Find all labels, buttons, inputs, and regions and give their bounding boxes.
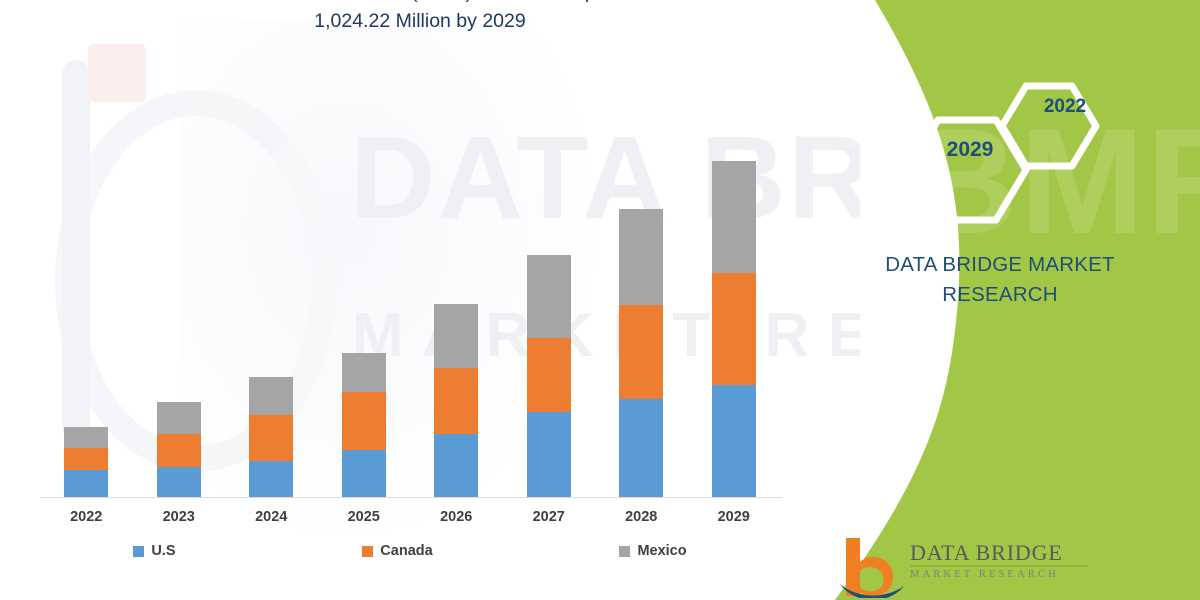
logo-title: DATA BRIDGE (910, 540, 1063, 566)
bar-segment-canada-2022[interactable] (64, 448, 108, 470)
hex-2029-icon (908, 120, 1026, 220)
x-axis-label-2022: 2022 (64, 509, 108, 525)
hexagon-badges: 2029 2022 (900, 78, 1140, 228)
bar-segment-canada-2024[interactable] (249, 415, 293, 461)
legend-label: Mexico (637, 543, 686, 559)
bar-segment-us-2028[interactable] (619, 399, 663, 497)
bar-2022[interactable] (64, 427, 108, 497)
bar-segment-mexico-2023[interactable] (157, 402, 201, 434)
logo-subtitle: MARKET RESEARCH (910, 569, 1059, 580)
bar-2028[interactable] (619, 209, 663, 497)
x-axis-label-2024: 2024 (249, 509, 293, 525)
hex-2022-label: 2022 (1010, 96, 1120, 118)
bar-segment-canada-2025[interactable] (342, 392, 386, 450)
x-axis-label-2029: 2029 (712, 509, 756, 525)
logo-mark-icon (840, 536, 906, 598)
chart-legend: U.SCanadaMexico (40, 538, 780, 564)
bar-segment-canada-2028[interactable] (619, 305, 663, 399)
hex-2029-label: 2029 (910, 138, 1030, 162)
bar-segment-us-2026[interactable] (434, 434, 478, 497)
bar-2027[interactable] (527, 255, 571, 497)
bar-segment-mexico-2027[interactable] (527, 255, 571, 338)
bar-segment-mexico-2022[interactable] (64, 427, 108, 448)
x-axis-label-2028: 2028 (619, 509, 663, 525)
bar-segment-us-2027[interactable] (527, 412, 571, 497)
bars-container (40, 60, 780, 497)
legend-swatch-icon (362, 546, 373, 557)
bar-2026[interactable] (434, 304, 478, 497)
bar-segment-canada-2027[interactable] (527, 338, 571, 412)
x-axis-label-2025: 2025 (342, 509, 386, 525)
brand-line-2: RESEARCH (800, 280, 1200, 310)
bar-2025[interactable] (342, 353, 386, 497)
x-axis-label-2023: 2023 (157, 509, 201, 525)
bar-2024[interactable] (249, 377, 293, 497)
branding-panel: DBMR Device (LVAD) Market, By 2029 2029 … (780, 0, 1200, 600)
bar-segment-us-2025[interactable] (342, 450, 386, 497)
brand-line-1: DATA BRIDGE MARKET (800, 250, 1200, 280)
bar-2023[interactable] (157, 402, 201, 497)
legend-label: U.S (151, 543, 175, 559)
legend-item-us[interactable]: U.S (133, 543, 175, 559)
bar-segment-canada-2023[interactable] (157, 434, 201, 467)
x-axis-labels: 20222023202420252026202720282029 (40, 505, 780, 529)
x-axis-label-2026: 2026 (434, 509, 478, 525)
legend-item-canada[interactable]: Canada (362, 543, 432, 559)
bar-2029[interactable] (712, 161, 756, 497)
bar-segment-mexico-2029[interactable] (712, 161, 756, 273)
panel-title: Device (LVAD) Market, By 2029 (820, 0, 1200, 4)
bar-segment-us-2022[interactable] (64, 470, 108, 497)
legend-swatch-icon (133, 546, 144, 557)
legend-item-mexico[interactable]: Mexico (619, 543, 686, 559)
bar-segment-us-2023[interactable] (157, 467, 201, 497)
bar-segment-mexico-2024[interactable] (249, 377, 293, 415)
brand-name: DATA BRIDGE MARKET RESEARCH (800, 250, 1200, 310)
chart-panel: DATA BRIDGE MARKET RESEARCH North Americ… (0, 0, 860, 600)
bar-segment-mexico-2026[interactable] (434, 304, 478, 368)
logo-divider (910, 565, 1088, 567)
x-axis-label-2027: 2027 (527, 509, 571, 525)
bar-segment-us-2029[interactable] (712, 385, 756, 497)
x-axis-line (40, 497, 782, 498)
legend-label: Canada (380, 543, 432, 559)
company-logo: DATA BRIDGE MARKET RESEARCH (840, 536, 1200, 600)
chart-title: North America Left Ventricular Assist De… (0, 0, 840, 36)
bar-segment-canada-2026[interactable] (434, 368, 478, 434)
bar-segment-canada-2029[interactable] (712, 273, 756, 385)
legend-swatch-icon (619, 546, 630, 557)
bar-segment-us-2024[interactable] (249, 461, 293, 497)
bar-segment-mexico-2028[interactable] (619, 209, 663, 305)
bar-segment-mexico-2025[interactable] (342, 353, 386, 392)
